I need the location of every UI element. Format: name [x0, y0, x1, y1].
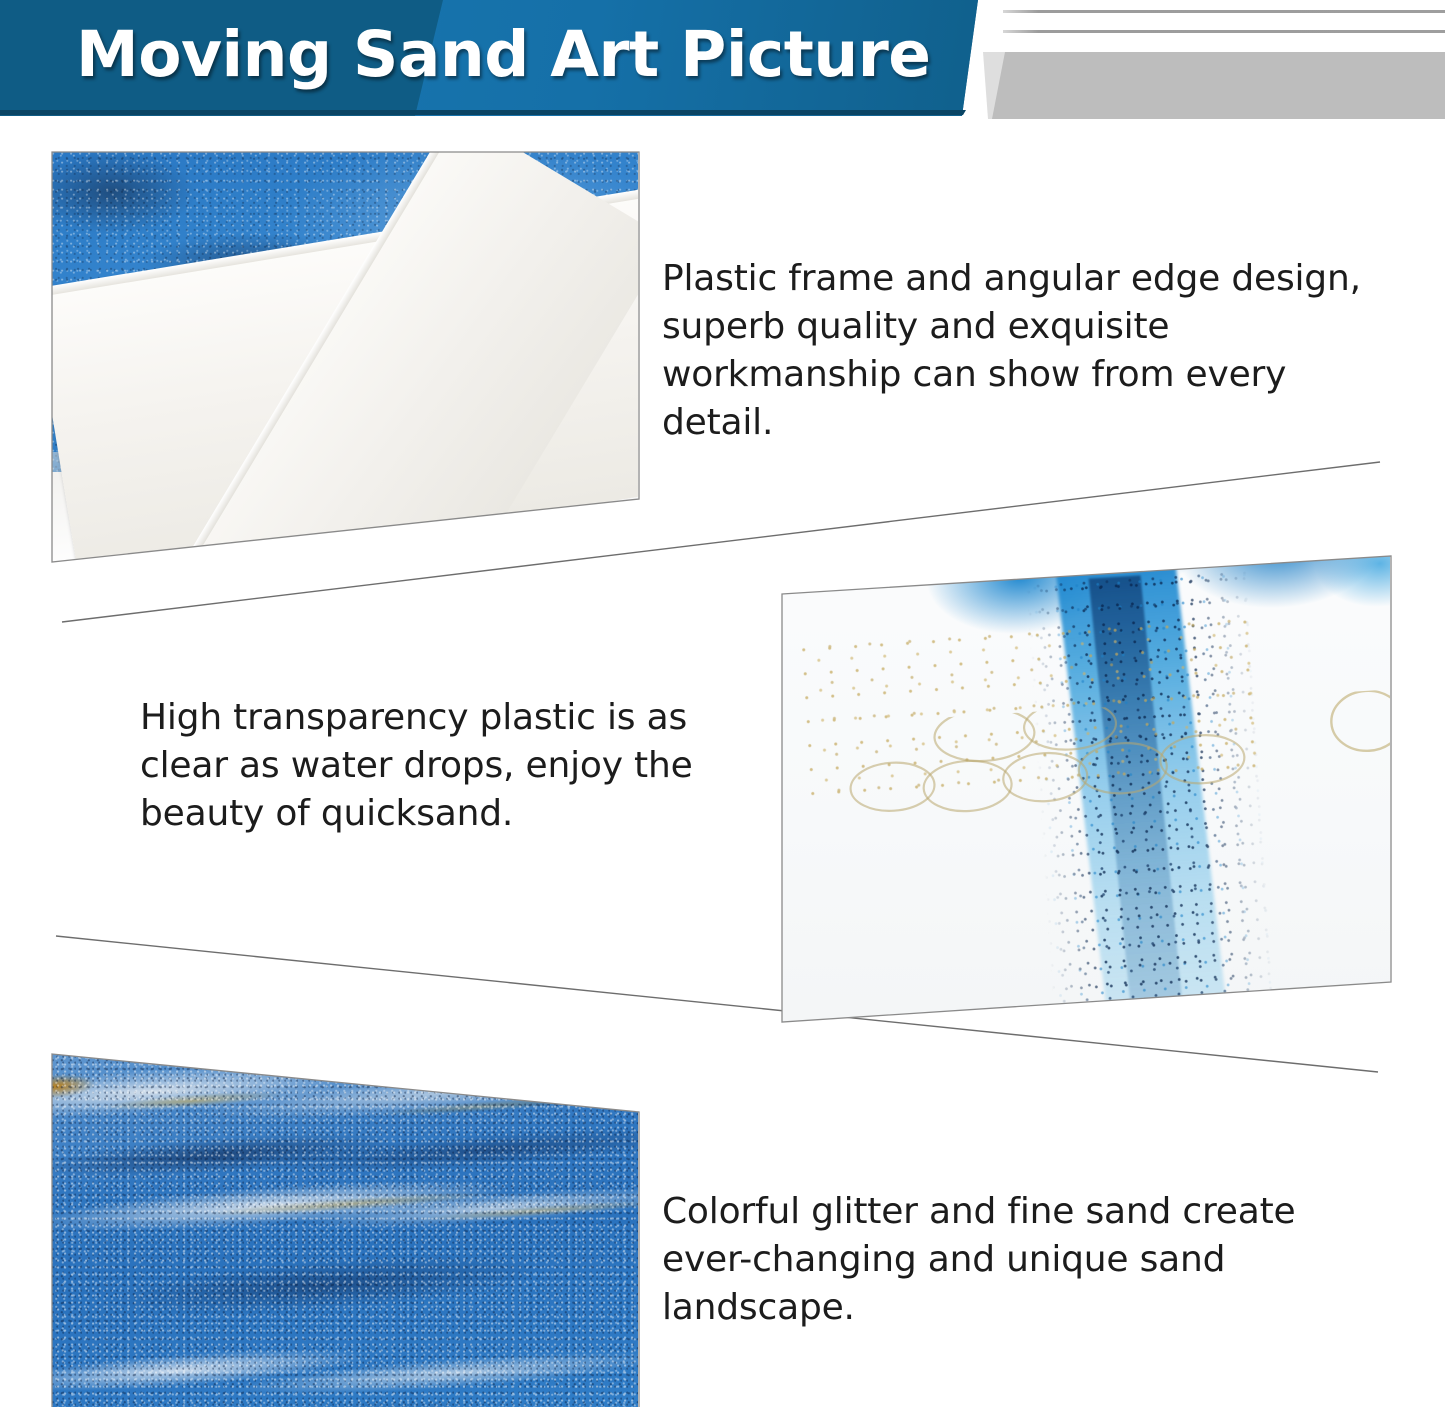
page-title: Moving Sand Art Picture	[76, 18, 931, 91]
product-photo-falling-sand	[782, 556, 1390, 1022]
header-rule-bottom	[1003, 30, 1445, 33]
infographic-page: Moving Sand Art Picture	[0, 0, 1445, 1407]
feature-text-glitter-sand: Colorful glitter and fine sand create ev…	[662, 1188, 1302, 1332]
product-photo-sand-closeup	[52, 1048, 638, 1407]
header-banner-underline	[0, 110, 966, 115]
header-rule-top	[1003, 10, 1445, 13]
feature-text-transparency: High transparency plastic is as clear as…	[140, 694, 780, 838]
feature-text-frame-quality: Plastic frame and angular edge design, s…	[662, 255, 1382, 447]
sand-grain-overlay	[52, 1048, 638, 1407]
header-gray-band	[983, 52, 1445, 119]
product-photo-frame-corner	[52, 152, 638, 562]
